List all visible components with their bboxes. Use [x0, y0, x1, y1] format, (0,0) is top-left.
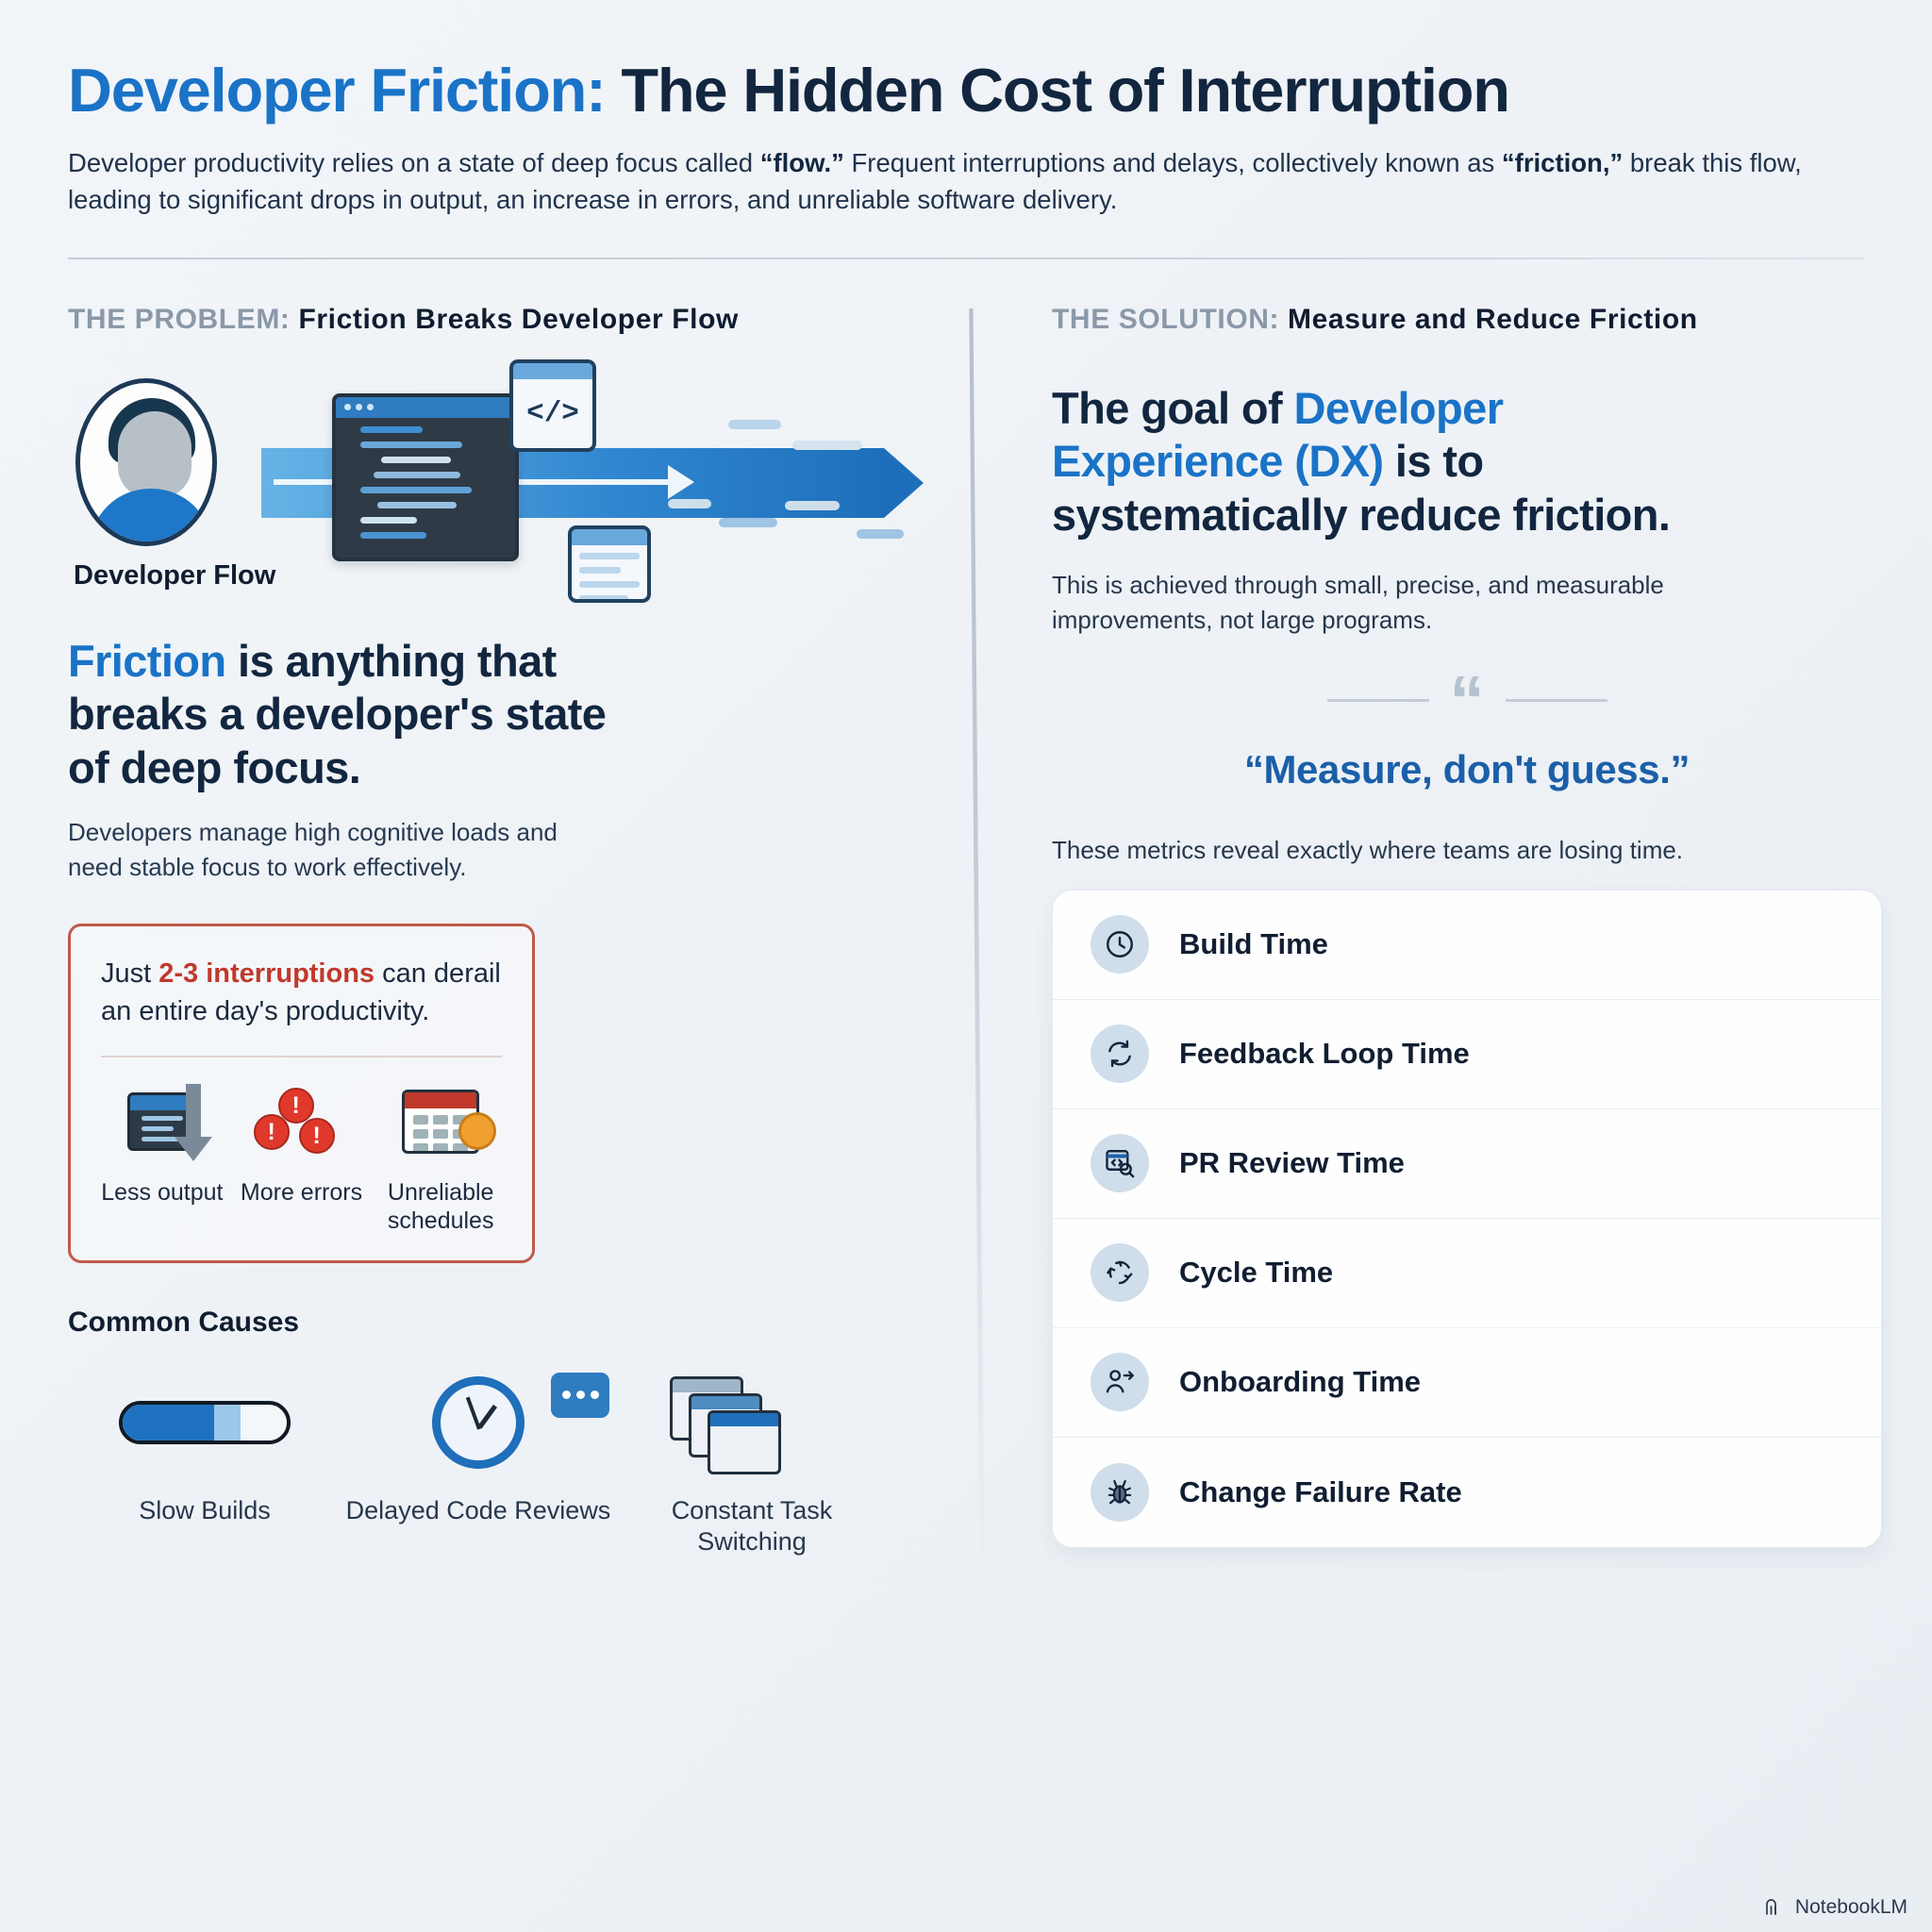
two-column-body: THE PROBLEM: Friction Breaks Developer F… [68, 303, 1864, 1850]
friction-definition-accent: Friction [68, 636, 226, 686]
metrics-intro-note: These metrics reveal exactly where teams… [1052, 836, 1882, 865]
interruptions-callout: Just 2-3 interruptions can derail an ent… [68, 924, 535, 1263]
impact-label: Unreliable schedules [379, 1178, 502, 1236]
notebooklm-logo-icon [1764, 1898, 1787, 1917]
progress-bar-icon [68, 1371, 341, 1474]
friction-definition-heading: Friction is anything that breaks a devel… [68, 635, 653, 794]
cause-item: Constant Task Switching [615, 1371, 889, 1559]
subtitle-part-1: Developer productivity relies on a state… [68, 148, 760, 177]
problem-kicker-head: Friction Breaks Developer Flow [291, 304, 739, 335]
illustration-caption: Developer Flow [74, 560, 275, 591]
subtitle-friction-term: “friction,” [1502, 148, 1623, 177]
notebooklm-watermark: NotebookLM [1764, 1896, 1907, 1919]
problem-column: THE PROBLEM: Friction Breaks Developer F… [68, 303, 950, 1850]
window-titlebar [572, 529, 647, 545]
bug-icon [1091, 1463, 1149, 1522]
common-causes-title: Common Causes [68, 1307, 950, 1339]
metric-row[interactable]: Build Time [1053, 891, 1881, 1000]
callout-highlight: 2-3 interruptions [158, 958, 375, 989]
page-title: Developer Friction: The Hidden Cost of I… [68, 58, 1864, 124]
dx-goal-part-1: The goal of [1052, 383, 1294, 433]
refresh-loop-icon [1091, 1024, 1149, 1083]
metric-row[interactable]: Cycle Time [1053, 1219, 1881, 1328]
code-tag-window-icon: </> [509, 359, 596, 452]
cause-label: Constant Task Switching [615, 1495, 889, 1559]
clock-icon [1091, 915, 1149, 974]
solution-column: THE SOLUTION: Measure and Reduce Frictio… [1052, 303, 1882, 1850]
metric-label: Build Time [1179, 927, 1328, 961]
problem-kicker: THE PROBLEM: Friction Breaks Developer F… [68, 303, 950, 337]
comment-bubble-icon [551, 1373, 609, 1418]
friction-definition-body: Developers manage high cognitive loads a… [68, 815, 558, 885]
code-editor-window-icon [332, 393, 519, 561]
subtitle-part-2: Frequent interruptions and delays, colle… [844, 148, 1502, 177]
ornament-line-right [1506, 699, 1607, 702]
watermark-label: NotebookLM [1795, 1896, 1907, 1919]
metric-label: Onboarding Time [1179, 1365, 1421, 1399]
metric-label: Feedback Loop Time [1179, 1037, 1470, 1071]
header-divider [68, 258, 1864, 259]
error-dots-icon: ! ! ! [241, 1078, 363, 1165]
pull-quote: “Measure, don't guess.” [1052, 747, 1882, 792]
avatar-face [118, 411, 192, 498]
solution-kicker-label: THE SOLUTION: [1052, 304, 1279, 335]
metrics-list: Build Time Feedback Loop Time [1052, 890, 1882, 1548]
callout-divider [101, 1056, 502, 1058]
metric-row[interactable]: PR Review Time [1053, 1109, 1881, 1219]
metric-label: Cycle Time [1179, 1256, 1333, 1290]
cause-label: Slow Builds [68, 1495, 341, 1527]
impact-item: Less output [101, 1078, 224, 1236]
solution-kicker: THE SOLUTION: Measure and Reduce Frictio… [1052, 303, 1882, 337]
callout-prefix: Just [101, 958, 158, 989]
quote-mark-icon: “ [1450, 679, 1485, 723]
metric-row[interactable]: Onboarding Time [1053, 1328, 1881, 1438]
stacked-windows-icon [615, 1371, 889, 1474]
developer-flow-illustration: </> Developer Flow [68, 367, 950, 603]
code-review-search-icon [1091, 1134, 1149, 1192]
callout-text: Just 2-3 interruptions can derail an ent… [101, 955, 502, 1031]
avatar-body [90, 489, 212, 546]
metric-label: Change Failure Rate [1179, 1475, 1462, 1509]
impact-label: More errors [241, 1178, 363, 1207]
subtitle-flow-term: “flow.” [760, 148, 844, 177]
flow-arrow-head [668, 465, 694, 499]
calendar-clock-icon [379, 1078, 502, 1165]
infographic-page: Developer Friction: The Hidden Cost of I… [0, 0, 1932, 1932]
impact-list: Less output ! ! ! More errors [101, 1078, 502, 1236]
impact-item: ! ! ! More errors [241, 1078, 363, 1236]
person-arrow-icon [1091, 1353, 1149, 1411]
common-causes-list: Slow Builds Delayed Code Reviews [68, 1371, 889, 1559]
metric-label: PR Review Time [1179, 1146, 1405, 1180]
quote-ornament: “ [1052, 679, 1882, 723]
column-divider [960, 308, 985, 1601]
impact-item: Unreliable schedules [379, 1078, 502, 1236]
page-title-accent: Developer Friction: [68, 56, 606, 125]
impact-label: Less output [101, 1178, 224, 1207]
page-title-rest: The Hidden Cost of Interruption [606, 56, 1509, 125]
clock-comment-icon [341, 1371, 615, 1474]
cycle-arrows-icon [1091, 1243, 1149, 1302]
solution-kicker-head: Measure and Reduce Friction [1279, 304, 1698, 335]
document-window-icon [568, 525, 651, 603]
window-titlebar [513, 363, 592, 379]
metric-row[interactable]: Change Failure Rate [1053, 1438, 1881, 1547]
metric-row[interactable]: Feedback Loop Time [1053, 1000, 1881, 1109]
cause-label: Delayed Code Reviews [341, 1495, 615, 1527]
cause-item: Slow Builds [68, 1371, 341, 1559]
angle-brackets-icon: </> [513, 379, 592, 448]
page-subtitle: Developer productivity relies on a state… [68, 144, 1864, 218]
cause-item: Delayed Code Reviews [341, 1371, 615, 1559]
dx-goal-heading: The goal of Developer Experience (DX) is… [1052, 382, 1731, 541]
problem-kicker-label: THE PROBLEM: [68, 304, 291, 335]
dx-goal-body: This is achieved through small, precise,… [1052, 568, 1807, 638]
avatar [75, 378, 217, 546]
output-down-icon [101, 1078, 224, 1165]
window-titlebar [336, 397, 515, 418]
ornament-line-left [1327, 699, 1429, 702]
